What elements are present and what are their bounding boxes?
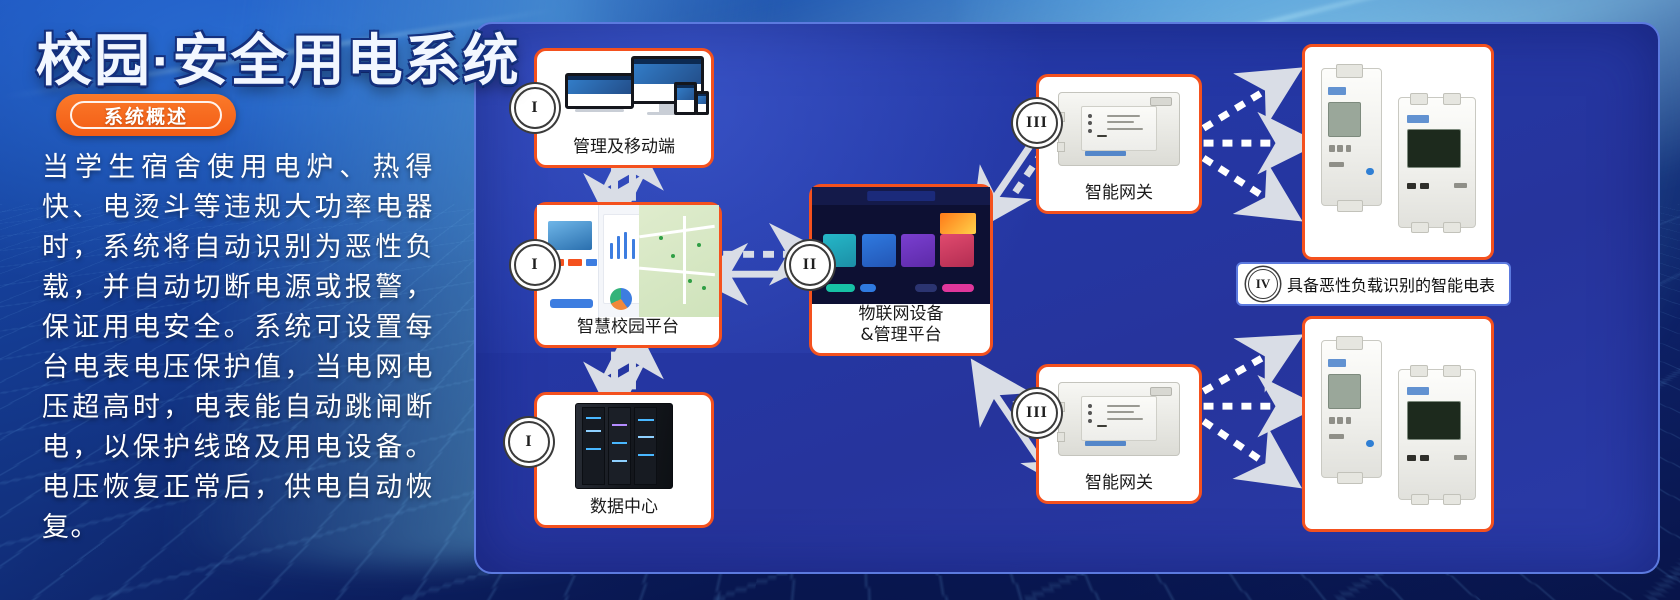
node-data-center[interactable]: 数据中心	[534, 392, 714, 528]
smart-meter-callout-label: 具备恶性负载识别的智能电表	[1287, 272, 1495, 296]
node-label: 智能网关	[1039, 473, 1199, 501]
numeral-badge-smart-meter: IV	[1248, 269, 1278, 299]
connector-campus-to-datacenter	[615, 352, 633, 390]
iot-dashboard-icon	[812, 187, 990, 304]
connector-gateway-top-to-meters	[1204, 86, 1286, 203]
numeral-badge-iot-platform: II	[789, 244, 831, 286]
meter-group-top[interactable]	[1302, 44, 1494, 260]
meter-group-bottom[interactable]	[1302, 316, 1494, 532]
connector-gateway-bottom-to-meters	[1204, 352, 1286, 469]
node-gateway-top[interactable]: 智能网关	[1036, 74, 1202, 214]
three-phase-meter-icon	[1383, 357, 1491, 512]
section-badge-inner: 系统概述	[70, 101, 222, 129]
overview-paragraph: 当学生宿舍使用电炉、热得快、电烫斗等违规大功率电器时，系统将自动识别为恶性负载，…	[42, 148, 434, 548]
server-rack-icon	[537, 395, 711, 497]
numeral-badge-data-center: I	[508, 421, 550, 463]
node-label: 物联网设备 &管理平台	[812, 304, 990, 353]
gateway-device-icon	[1039, 77, 1199, 183]
gateway-device-icon	[1039, 367, 1199, 473]
three-phase-meter-icon	[1383, 85, 1491, 240]
page-title: 校园·安全用电系统	[36, 16, 521, 97]
meter-group-bottom-art	[1305, 319, 1491, 529]
node-label: 数据中心	[537, 497, 711, 525]
section-badge: 系统概述	[56, 94, 236, 136]
section-badge-label: 系统概述	[104, 102, 188, 129]
meter-group-top-art	[1305, 47, 1491, 257]
node-iot-platform[interactable]: 物联网设备 &管理平台	[809, 184, 993, 356]
smart-meter-callout[interactable]: IV 具备恶性负载识别的智能电表	[1236, 262, 1511, 306]
single-phase-meter-icon	[1309, 327, 1395, 491]
numeral-badge-gateway-bottom: III	[1016, 392, 1058, 434]
node-label: 智能网关	[1039, 183, 1199, 211]
node-gateway-bottom[interactable]: 智能网关	[1036, 364, 1202, 504]
devices-icon	[537, 51, 711, 137]
numeral-badge-campus-platform: I	[514, 244, 556, 286]
node-label: 管理及移动端	[537, 137, 711, 165]
node-admin-mobile[interactable]: 管理及移动端	[534, 48, 714, 168]
hero-column: 校园·安全用电系统 系统概述 当学生宿舍使用电炉、热得快、电烫斗等违规大功率电器…	[0, 0, 470, 600]
node-campus-platform[interactable]: 智慧校园平台	[534, 202, 722, 348]
single-phase-meter-icon	[1309, 55, 1395, 219]
architecture-diagram-panel: 管理及移动端 I	[474, 22, 1660, 574]
node-label: 智慧校园平台	[537, 317, 719, 345]
numeral-badge-gateway-top: III	[1016, 102, 1058, 144]
dashboard-map-icon	[537, 205, 719, 317]
